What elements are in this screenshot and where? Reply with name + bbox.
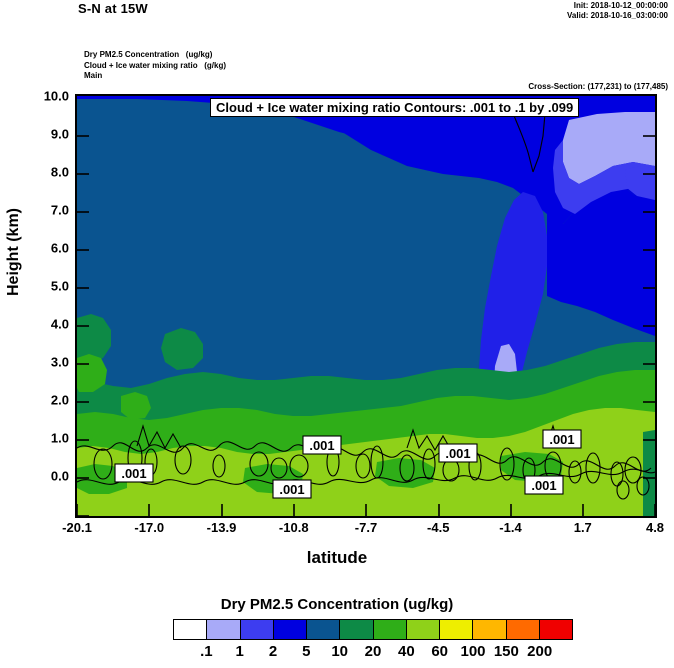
contour-label-box: .001: [303, 436, 341, 454]
cross-section-plot: .001 .001 .001 .001 .001 .001: [75, 94, 657, 518]
x-axis-title: latitude: [0, 548, 674, 568]
y-tick-label: 8.0: [51, 165, 69, 180]
contour-field: .001 .001 .001 .001 .001 .001: [77, 96, 655, 516]
colorbar-tick-label: .1: [200, 643, 213, 660]
y-tick-label: 7.0: [51, 203, 69, 218]
colorbar: [173, 619, 573, 640]
contour-label-box: .001: [115, 464, 153, 482]
colorbar-tick-label: 200: [527, 643, 552, 660]
colorbar-swatch: [340, 620, 373, 639]
colorbar-tick-label: 150: [494, 643, 519, 660]
init-time: Init: 2018-10-12_00:00:00: [567, 1, 668, 11]
y-tick-label: 4.0: [51, 317, 69, 332]
colorbar-tick-label: 1: [235, 643, 243, 660]
colorbar-tick-label: 10: [331, 643, 348, 660]
y-tick-label: 10.0: [44, 89, 69, 104]
y-tick-label: 9.0: [51, 127, 69, 142]
cross-section-coords: Cross-Section: (177,231) to (177,485): [528, 82, 668, 91]
y-tick-label: 5.0: [51, 279, 69, 294]
svg-text:.001: .001: [279, 482, 304, 497]
x-tick-label: 1.7: [574, 520, 592, 535]
colorbar-tick-label: 20: [365, 643, 382, 660]
colorbar-tick-label: 60: [431, 643, 448, 660]
colorbar-swatch: [174, 620, 207, 639]
colorbar-swatch: [473, 620, 506, 639]
svg-text:.001: .001: [121, 466, 146, 481]
colorbar-swatch: [207, 620, 240, 639]
x-tick-label: -10.8: [279, 520, 309, 535]
contour-label-box: .001: [273, 480, 311, 498]
contour-banner: Cloud + Ice water mixing ratio Contours:…: [210, 98, 579, 117]
colorbar-swatch: [241, 620, 274, 639]
x-tick-label: -7.7: [355, 520, 377, 535]
colorbar-tick-label: 40: [398, 643, 415, 660]
y-tick-label: 1.0: [51, 431, 69, 446]
y-tick-label: 2.0: [51, 393, 69, 408]
contour-label-box: .001: [543, 430, 581, 448]
y-axis-title: Height (km): [5, 192, 23, 312]
contour-label-box: .001: [525, 476, 563, 494]
x-tick-label: 4.8: [646, 520, 664, 535]
contour-label-box: .001: [439, 444, 477, 462]
timestamp-block: Init: 2018-10-12_00:00:00 Valid: 2018-10…: [567, 1, 668, 21]
y-tick-label: 6.0: [51, 241, 69, 256]
svg-text:.001: .001: [531, 478, 556, 493]
y-tick-label: 3.0: [51, 355, 69, 370]
colorbar-swatch: [307, 620, 340, 639]
svg-text:.001: .001: [309, 438, 334, 453]
svg-text:.001: .001: [445, 446, 470, 461]
colorbar-swatch: [374, 620, 407, 639]
colorbar-tick-label: 2: [269, 643, 277, 660]
x-tick-label: -1.4: [499, 520, 521, 535]
colorbar-swatch: [407, 620, 440, 639]
x-tick-label: -4.5: [427, 520, 449, 535]
colorbar-tick-label: 100: [460, 643, 485, 660]
colorbar-swatch: [440, 620, 473, 639]
svg-text:.001: .001: [549, 432, 574, 447]
field-description: Dry PM2.5 Concentration (ug/kg) Cloud + …: [84, 50, 226, 82]
x-tick-label: -17.0: [134, 520, 164, 535]
colorbar-title: Dry PM2.5 Concentration (ug/kg): [0, 596, 674, 613]
colorbar-tick-label: 5: [302, 643, 310, 660]
valid-time: Valid: 2018-10-16_03:00:00: [567, 11, 668, 21]
page-title: S-N at 15W: [78, 1, 148, 16]
x-tick-label: -13.9: [207, 520, 237, 535]
colorbar-swatch: [507, 620, 540, 639]
colorbar-swatch: [540, 620, 572, 639]
x-axis-ticks: -20.1-17.0-13.9-10.8-7.7-4.5-1.41.74.8: [75, 520, 657, 536]
y-tick-label: 0.0: [51, 469, 69, 484]
colorbar-ticks: .112510204060100150200: [173, 643, 573, 663]
x-tick-label: -20.1: [62, 520, 92, 535]
colorbar-swatch: [274, 620, 307, 639]
